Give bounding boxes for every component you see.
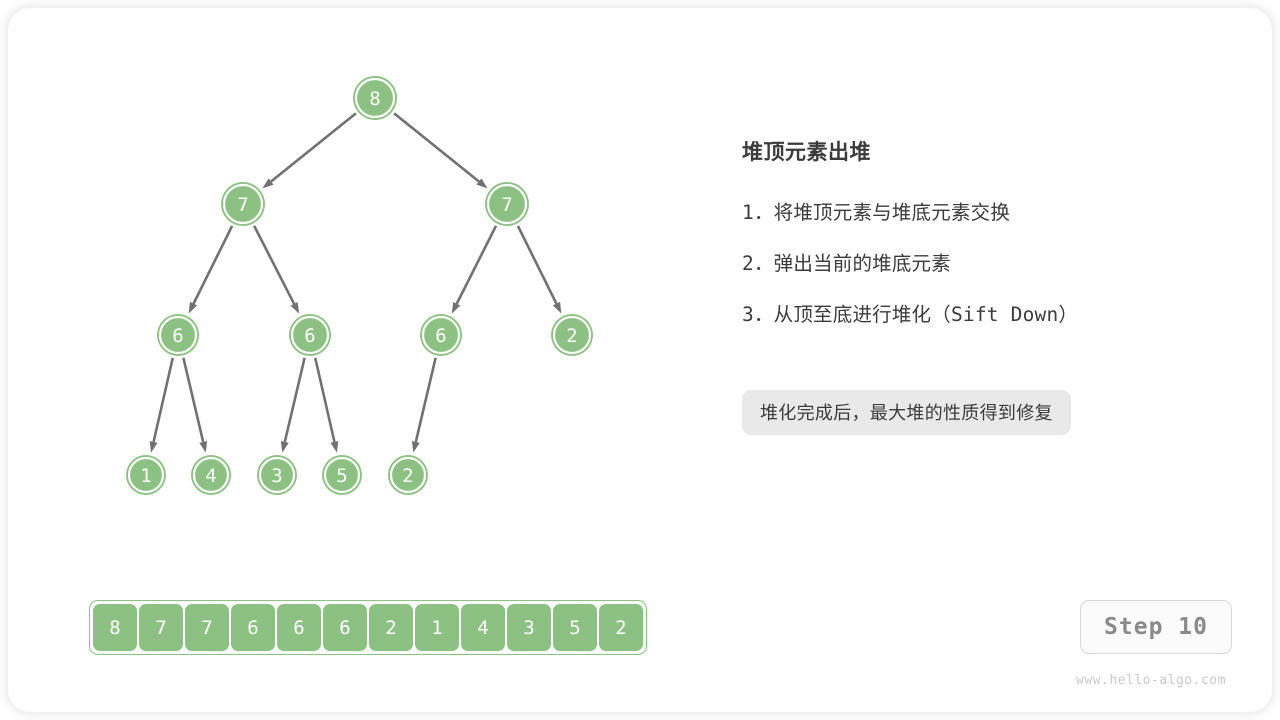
tree-node: 5 <box>322 455 362 495</box>
tree-edge <box>183 358 203 442</box>
step-item-2: 2．弹出当前的堆底元素 <box>742 247 1212 276</box>
node-label: 5 <box>336 465 347 487</box>
array-cell: 2 <box>599 604 643 651</box>
array-cell: 2 <box>369 604 413 651</box>
array-cell: 7 <box>185 604 229 651</box>
arrow-head-icon <box>331 441 339 453</box>
explanation-panel: 堆顶元素出堆 1．将堆顶元素与堆底元素交换2．弹出当前的堆底元素3．从顶至底进行… <box>742 136 1212 327</box>
step-badge: Step 10 <box>1080 600 1232 654</box>
step-item-1: 1．将堆顶元素与堆底元素交换 <box>742 196 1212 225</box>
array-cell: 4 <box>461 604 505 651</box>
tree-node: 6 <box>157 314 199 356</box>
tree-node: 3 <box>257 455 297 495</box>
tree-edge <box>457 226 496 304</box>
arrow-head-icon <box>199 441 207 453</box>
node-label: 4 <box>205 465 216 487</box>
array-cell: 3 <box>507 604 551 651</box>
tree-nodes: 877666214352 <box>126 76 593 495</box>
arrow-head-icon <box>291 302 300 314</box>
tree-node: 7 <box>221 182 265 226</box>
array-cell: 5 <box>553 604 597 651</box>
arrow-head-icon <box>281 441 289 453</box>
node-label: 8 <box>369 88 380 110</box>
node-label: 6 <box>172 325 183 347</box>
slide-canvas: 877666214352 877666214352 堆顶元素出堆 1．将堆顶元素… <box>0 0 1280 720</box>
tree-edge <box>315 358 334 442</box>
array-cell: 8 <box>93 604 137 651</box>
steps-list: 1．将堆顶元素与堆底元素交换2．弹出当前的堆底元素3．从顶至底进行堆化（Sift… <box>742 196 1212 327</box>
tree-node: 6 <box>420 314 462 356</box>
tree-node: 2 <box>551 314 593 356</box>
watermark: www.hello-algo.com <box>1070 673 1232 688</box>
tree-edge <box>394 113 479 181</box>
tree-edges <box>150 113 562 452</box>
page-title: 堆顶元素出堆 <box>742 136 1212 166</box>
node-label: 2 <box>402 465 413 487</box>
heap-array: 877666214352 <box>89 600 647 655</box>
heap-tree-diagram: 877666214352 <box>0 0 700 540</box>
tree-edge <box>154 358 173 442</box>
array-cell: 6 <box>277 604 321 651</box>
arrow-head-icon <box>150 441 158 453</box>
node-label: 6 <box>304 325 315 347</box>
note-callout: 堆化完成后，最大堆的性质得到修复 <box>742 390 1071 435</box>
tree-node: 1 <box>126 455 166 495</box>
node-label: 3 <box>271 465 282 487</box>
tree-node: 7 <box>485 182 529 226</box>
tree-edge <box>518 226 557 304</box>
tree-node: 6 <box>289 314 331 356</box>
node-label: 6 <box>435 325 446 347</box>
arrow-head-icon <box>189 302 197 314</box>
node-label: 2 <box>566 325 577 347</box>
array-cell: 6 <box>323 604 367 651</box>
array-cell: 6 <box>231 604 275 651</box>
arrow-head-icon <box>412 441 420 453</box>
arrow-head-icon <box>452 302 461 314</box>
tree-node: 8 <box>353 76 397 120</box>
tree-edge <box>416 358 436 442</box>
tree-edge <box>254 226 294 304</box>
array-cell: 1 <box>415 604 459 651</box>
tree-edge <box>194 226 233 304</box>
tree-node: 2 <box>388 455 428 495</box>
tree-node: 4 <box>191 455 231 495</box>
arrow-head-icon <box>553 302 561 314</box>
node-label: 7 <box>237 194 248 216</box>
node-label: 1 <box>140 465 151 487</box>
array-cell: 7 <box>139 604 183 651</box>
tree-edge <box>271 113 356 181</box>
tree-edge <box>285 358 305 442</box>
node-label: 7 <box>501 194 512 216</box>
step-item-3: 3．从顶至底进行堆化（Sift Down） <box>742 298 1212 327</box>
